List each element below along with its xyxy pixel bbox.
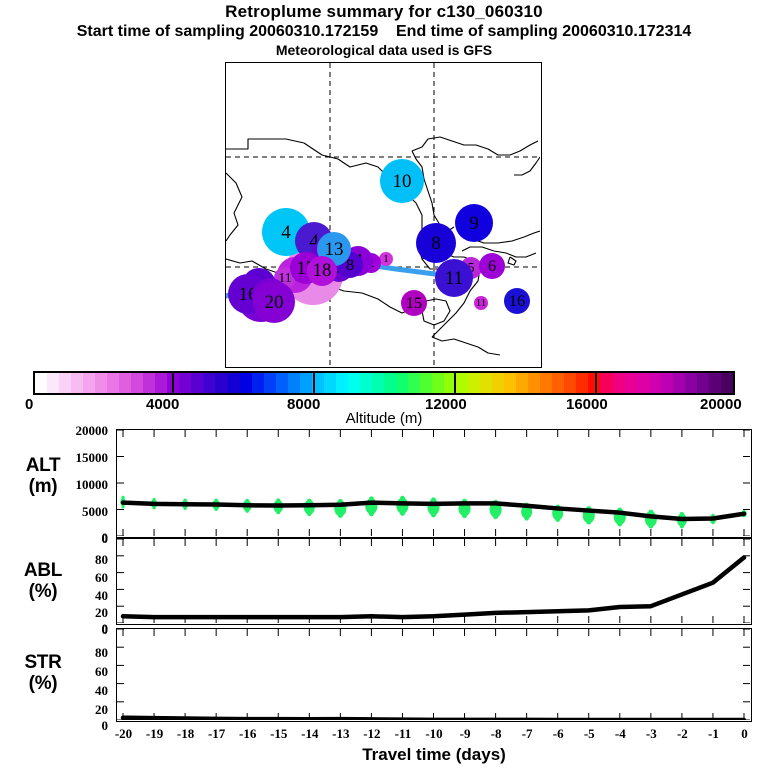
colorbar-band-25: [336, 373, 348, 393]
colorbar-separator-12000: [454, 371, 456, 395]
colorbar-band-9: [143, 373, 155, 393]
colorbar-band-52: [661, 373, 673, 393]
str-ytick-80: 80: [48, 645, 108, 661]
x-axis-tick--16: -16: [231, 726, 265, 742]
alt-chart-panel[interactable]: [116, 429, 752, 538]
map-marker-day-10[interactable]: 10: [380, 159, 424, 203]
colorbar-band-47: [600, 373, 612, 393]
str-chart-panel[interactable]: [116, 628, 752, 722]
colorbar-band-17: [240, 373, 252, 393]
alt-ytick-20000: 20000: [48, 423, 108, 439]
abl-ytick-60: 60: [48, 570, 108, 586]
colorbar-band-33: [432, 373, 444, 393]
map-marker-day-11[interactable]: 11: [435, 259, 473, 297]
x-axis-tick--12: -12: [355, 726, 389, 742]
map-marker-day-8[interactable]: 8: [416, 223, 456, 263]
colorbar-band-36: [468, 373, 480, 393]
str-ytick-20: 20: [48, 702, 108, 718]
x-axis-title: Travel time (days): [116, 745, 752, 765]
colorbar-band-39: [504, 373, 516, 393]
colorbar-band-14: [203, 373, 215, 393]
map-marker-day-16[interactable]: 16: [504, 288, 530, 314]
colorbar-band-57: [721, 373, 733, 393]
colorbar-band-55: [697, 373, 709, 393]
map-marker-day-1[interactable]: 1: [379, 252, 393, 266]
str-ytick-0: 0: [48, 718, 108, 734]
colorbar-band-35: [456, 373, 468, 393]
end-time-label: End time of sampling 20060310.172314: [396, 23, 691, 40]
page-title: Retroplume summary for c130_060310: [0, 2, 768, 22]
x-axis-tick--8: -8: [479, 726, 513, 742]
x-axis-tick--6: -6: [541, 726, 575, 742]
colorbar-band-56: [709, 373, 721, 393]
colorbar-band-54: [685, 373, 697, 393]
x-axis-tick--7: -7: [510, 726, 544, 742]
abl-ytick-100: 0: [48, 531, 108, 547]
x-axis-tick--19: -19: [138, 726, 172, 742]
map-marker-day-6[interactable]: 6: [479, 253, 505, 279]
alt-ytick-15000: 15000: [48, 450, 108, 466]
colorbar-band-1: [47, 373, 59, 393]
colorbar-axis-label: Altitude (m): [0, 410, 768, 427]
colorbar-band-44: [564, 373, 576, 393]
colorbar-band-0: [35, 373, 47, 393]
x-axis-tick--15: -15: [262, 726, 296, 742]
colorbar-band-10: [155, 373, 167, 393]
map-marker-day-20[interactable]: 20: [253, 281, 295, 323]
colorbar-separator-4000: [172, 371, 174, 395]
colorbar-band-18: [252, 373, 264, 393]
colorbar-separator-16000: [595, 371, 597, 395]
colorbar-band-5: [95, 373, 107, 393]
x-axis-tick--11: -11: [386, 726, 420, 742]
abl-ytick-40: 40: [48, 588, 108, 604]
alt-ytick-5000: 5000: [48, 504, 108, 520]
alt-ytick-10000: 10000: [48, 477, 108, 493]
colorbar-band-31: [408, 373, 420, 393]
colorbar-band-37: [480, 373, 492, 393]
colorbar-band-20: [276, 373, 288, 393]
map-marker-day-18[interactable]: 18: [307, 256, 337, 286]
colorbar-band-48: [613, 373, 625, 393]
abl-chart-svg: [117, 539, 750, 623]
map-marker-day-9[interactable]: 9: [455, 204, 493, 242]
colorbar-band-49: [625, 373, 637, 393]
x-axis-tick--2: -2: [665, 726, 699, 742]
colorbar-band-40: [516, 373, 528, 393]
x-axis-tick--5: -5: [572, 726, 606, 742]
colorbar-separator-8000: [313, 371, 315, 395]
colorbar-band-4: [83, 373, 95, 393]
colorbar-band-27: [360, 373, 372, 393]
sampling-time-line: Start time of sampling 20060310.172159 E…: [0, 22, 768, 42]
colorbar-band-8: [131, 373, 143, 393]
colorbar-band-2: [59, 373, 71, 393]
colorbar-band-38: [492, 373, 504, 393]
map-marker-day-15[interactable]: 15: [401, 290, 427, 316]
str-ytick-40: 40: [48, 683, 108, 699]
colorbar-band-21: [288, 373, 300, 393]
colorbar-band-16: [228, 373, 240, 393]
altitude-colorbar: [33, 371, 735, 395]
x-axis-tick--13: -13: [324, 726, 358, 742]
colorbar-band-45: [576, 373, 588, 393]
colorbar-band-50: [637, 373, 649, 393]
map-marker-day-11[interactable]: 11: [474, 296, 488, 310]
colorbar-band-15: [215, 373, 227, 393]
x-axis-tick--14: -14: [293, 726, 327, 742]
x-axis-tick-0: 0: [728, 726, 762, 742]
colorbar-band-28: [372, 373, 384, 393]
abl-ytick-20: 20: [48, 605, 108, 621]
str-ytick-60: 60: [48, 664, 108, 680]
abl-chart-panel[interactable]: [116, 538, 752, 625]
colorbar-band-43: [552, 373, 564, 393]
colorbar-band-12: [179, 373, 191, 393]
met-data-label: Meteorological data used is GFS: [0, 42, 768, 59]
retroplume-map[interactable]: 1234445566788910111111121314151616171819…: [225, 62, 542, 368]
x-axis-tick--3: -3: [634, 726, 668, 742]
colorbar-band-53: [673, 373, 685, 393]
x-axis-tick--20: -20: [107, 726, 141, 742]
colorbar-band-22: [300, 373, 312, 393]
x-axis-tick--4: -4: [603, 726, 637, 742]
colorbar-band-32: [420, 373, 432, 393]
str-chart-svg: [117, 629, 750, 720]
colorbar-band-26: [348, 373, 360, 393]
colorbar-band-24: [324, 373, 336, 393]
colorbar-band-51: [649, 373, 661, 393]
x-axis-tick--18: -18: [169, 726, 203, 742]
colorbar-band-42: [540, 373, 552, 393]
colorbar-band-6: [107, 373, 119, 393]
x-axis-tick--9: -9: [448, 726, 482, 742]
colorbar-band-29: [384, 373, 396, 393]
alt-chart-svg: [117, 430, 750, 536]
x-axis-tick--17: -17: [200, 726, 234, 742]
start-time-label: Start time of sampling 20060310.172159: [77, 23, 379, 40]
colorbar-band-30: [396, 373, 408, 393]
title-block: Retroplume summary for c130_060310 Start…: [0, 2, 768, 59]
colorbar-band-19: [264, 373, 276, 393]
x-axis-tick--1: -1: [696, 726, 730, 742]
colorbar-band-13: [191, 373, 203, 393]
colorbar-band-41: [528, 373, 540, 393]
colorbar-band-3: [71, 373, 83, 393]
abl-ytick-80: 80: [48, 552, 108, 568]
x-axis-tick--10: -10: [417, 726, 451, 742]
time-gap: [378, 23, 396, 40]
str-ytick-100: 0: [48, 622, 108, 638]
colorbar-band-7: [119, 373, 131, 393]
